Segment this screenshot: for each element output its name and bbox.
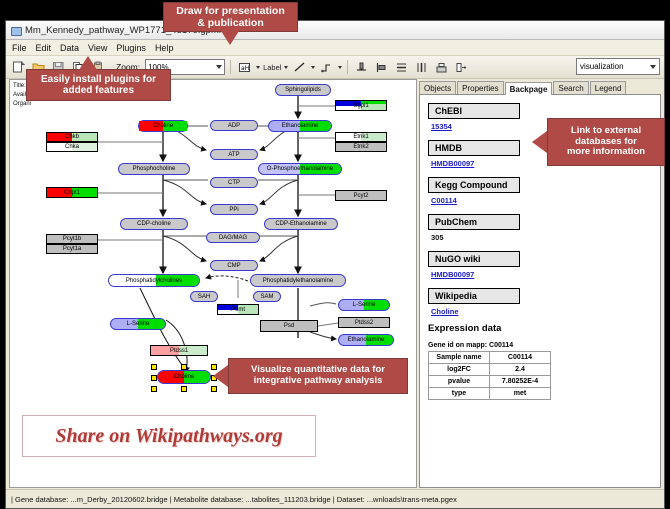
metabolite-node[interactable]: L-Serine (338, 299, 390, 311)
metabolite-node[interactable]: Phosphatidylethanolamine (250, 274, 346, 287)
selection-handle[interactable] (151, 375, 157, 381)
callout-visualize-arrow-icon (213, 365, 228, 387)
database-header-hmdb: HMDB (428, 140, 520, 156)
callout-link: Link to external databases for more info… (547, 118, 665, 166)
selection-handle[interactable] (181, 364, 187, 370)
table-cell-value: met (490, 388, 551, 400)
gene-node[interactable]: Pcyt1a (46, 244, 98, 254)
expression-data-heading: Expression data (428, 323, 660, 334)
table-row: type met (429, 388, 551, 400)
callout-plugins: Easily install plugins for added feature… (26, 69, 171, 101)
table-cell-value: C00114 (490, 352, 551, 364)
metabolite-node[interactable]: CDP-choline (120, 218, 188, 230)
cofactor-node[interactable]: ATP (210, 149, 258, 160)
label-chevron-icon[interactable] (284, 66, 288, 69)
gene-node[interactable]: Pcyt1b (46, 234, 98, 244)
database-header-pubchem: PubChem (428, 214, 520, 230)
table-cell-value: 2.4 (490, 364, 551, 376)
callout-share-text: Share on Wikipathways.org (55, 425, 282, 448)
gene-node[interactable]: Pemt (217, 304, 259, 315)
database-link-nugo[interactable]: HMDB00097 (431, 270, 660, 279)
metabolite-node[interactable]: Phosphocholine (118, 163, 190, 175)
distribute-horizontal-icon[interactable] (413, 59, 430, 76)
stack-center-icon[interactable] (433, 59, 450, 76)
gene-node[interactable]: Chka (46, 142, 98, 152)
cofactor-node[interactable]: SAH (190, 291, 218, 302)
callout-draw: Draw for presentation & publication (163, 2, 298, 32)
connector-chevron-icon[interactable] (338, 66, 342, 69)
tab-search[interactable]: Search (553, 81, 588, 94)
metabolite-node[interactable]: O-Phosphoethanolamine (258, 163, 342, 175)
callout-draw-arrow-icon (221, 31, 239, 45)
connector-tool-icon[interactable] (318, 59, 335, 76)
metabolite-node[interactable]: CDP-Ethanolamine (264, 218, 338, 230)
table-cell-key: type (429, 388, 490, 400)
chevron-down-icon (216, 65, 222, 69)
order-front-icon[interactable] (453, 59, 470, 76)
metabolite-node[interactable]: L-Serine (110, 318, 166, 330)
callout-visualize: Visualize quantitative data for integrat… (228, 358, 408, 394)
table-cell-key: Sample name (429, 352, 490, 364)
callout-plugins-arrow-icon (79, 56, 97, 70)
app-icon (10, 25, 21, 36)
table-row: Sample name C00114 (429, 352, 551, 364)
table-cell-value: 7.80252E-4 (490, 376, 551, 388)
toolbar-divider (230, 60, 231, 74)
cofactor-node[interactable]: SAM (253, 291, 281, 302)
visualization-value: visualization (580, 62, 624, 71)
menu-item-plugins[interactable]: Plugins (116, 43, 146, 53)
selection-handle[interactable] (151, 386, 157, 392)
visualization-chevron-icon (650, 65, 656, 69)
gene-node[interactable]: Ptdss2 (338, 317, 390, 328)
status-bar: | Gene database: ...m_Derby_20120602.bri… (6, 489, 664, 508)
gene-node[interactable]: Pcyt2 (335, 190, 387, 201)
cofactor-node[interactable]: CMP (210, 260, 258, 271)
gene-node[interactable]: Etnk1 (335, 132, 387, 142)
metabolite-node-selected[interactable]: Choline (157, 370, 211, 384)
callout-link-arrow-icon (532, 131, 547, 153)
menu-item-help[interactable]: Help (155, 43, 174, 53)
cofactor-node[interactable]: DAG/MAG (206, 232, 260, 243)
metabolite-node[interactable]: Ethanolamine (268, 120, 332, 132)
metabolite-node[interactable]: Choline (138, 120, 188, 132)
cofactor-node[interactable]: PPi (210, 204, 258, 215)
svg-text:aH: aH (241, 65, 249, 72)
table-row: pvalue 7.80252E-4 (429, 376, 551, 388)
title-bar: Mm_Kennedy_pathway_WP1771_45176.gpml (6, 21, 664, 40)
text-tool-chevron-icon[interactable] (256, 66, 260, 69)
database-header-chebi: ChEBI (428, 103, 520, 119)
line-chevron-icon[interactable] (311, 66, 315, 69)
gene-node[interactable]: Chpt1 (46, 187, 98, 198)
line-tool-icon[interactable] (291, 59, 308, 76)
database-link-kegg[interactable]: C00114 (431, 196, 660, 205)
metabolite-node[interactable]: Ethanolamine (338, 334, 394, 346)
tab-legend[interactable]: Legend (590, 81, 627, 94)
gene-node[interactable]: Etnk2 (335, 142, 387, 152)
metabolite-node[interactable]: Phosphatidylcholines (108, 274, 200, 287)
database-value-pubchem: 305 (431, 233, 660, 242)
selection-handle[interactable] (151, 364, 157, 370)
gene-node[interactable]: Chkb (46, 132, 98, 142)
database-header-kegg: Kegg Compound (428, 177, 520, 193)
cofactor-node[interactable]: ADP (210, 120, 258, 131)
align-top-icon[interactable] (353, 59, 370, 76)
callout-share: Share on Wikipathways.org (22, 415, 316, 457)
distribute-vertical-icon[interactable] (393, 59, 410, 76)
table-cell-key: log2FC (429, 364, 490, 376)
gene-node[interactable]: Ptdss1 (150, 345, 208, 356)
menu-item-view[interactable]: View (88, 43, 107, 53)
table-row: log2FC 2.4 (429, 364, 551, 376)
tab-properties[interactable]: Properties (457, 81, 503, 94)
database-header-wikipedia: Wikipedia (428, 288, 520, 304)
tab-objects[interactable]: Objects (419, 81, 456, 94)
gene-node[interactable]: Psd (260, 320, 318, 332)
menu-item-file[interactable]: File (12, 43, 27, 53)
text-tool-icon[interactable]: aH (236, 59, 253, 76)
database-header-nugo: NuGO wiki (428, 251, 520, 267)
align-left-icon[interactable] (373, 59, 390, 76)
gene-node[interactable]: Sgpl1 (335, 100, 387, 111)
status-bar-text: | Gene database: ...m_Derby_20120602.bri… (11, 495, 457, 504)
menu-bar: File Edit Data View Plugins Help (6, 40, 664, 56)
menu-item-data[interactable]: Data (60, 43, 79, 53)
metabolite-node[interactable]: Sphingolipids (275, 84, 331, 96)
visualization-combo[interactable]: visualization (576, 58, 660, 75)
side-panel-tabs: Objects Properties Backpage Search Legen… (419, 79, 661, 95)
label-dropdown-label: Label (263, 63, 281, 72)
toolbar-divider-2 (347, 60, 348, 74)
cofactor-node[interactable]: CTP (210, 177, 258, 188)
expression-table: Sample name C00114 log2FC 2.4 pvalue 7.8… (428, 351, 551, 400)
new-file-icon[interactable] (10, 59, 27, 76)
selection-handle[interactable] (181, 386, 187, 392)
gene-id-label: Gene id on mapp: C00114 (428, 342, 660, 349)
table-cell-key: pvalue (429, 376, 490, 388)
database-link-wikipedia[interactable]: Choline (431, 307, 660, 316)
menu-item-edit[interactable]: Edit (36, 43, 52, 53)
tab-backpage[interactable]: Backpage (505, 82, 553, 95)
